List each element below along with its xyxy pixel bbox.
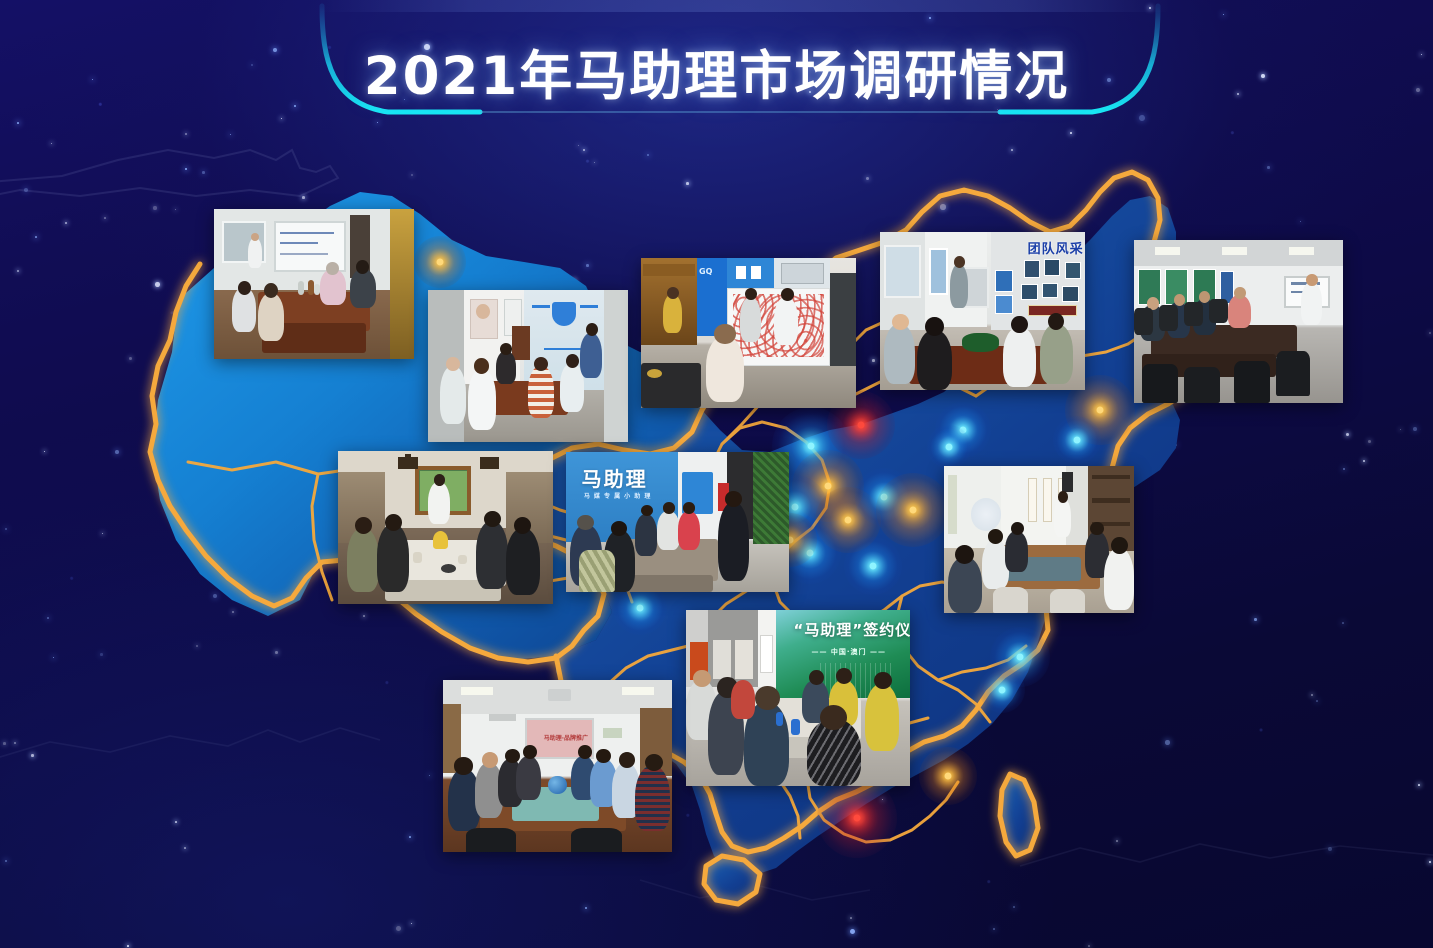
photo-training-whiteboard[interactable]: [214, 209, 414, 359]
map-marker-core: [1017, 654, 1024, 661]
photo-team-spirit-wall[interactable]: 团队风采: [880, 232, 1085, 390]
map-marker-amber: [414, 236, 466, 288]
map-marker-core: [1074, 437, 1081, 444]
map-marker-core: [910, 507, 917, 514]
map-marker-core: [946, 444, 953, 451]
map-marker-core: [637, 605, 644, 612]
map-marker-cyan: [990, 627, 1050, 687]
map-marker-core: [845, 517, 852, 524]
map-marker-cyan: [1053, 416, 1101, 464]
map-marker-cyan: [935, 402, 991, 458]
map-marker-core: [945, 773, 952, 780]
map-marker-amber: [792, 450, 864, 522]
map-marker-core: [808, 443, 815, 450]
map-marker-core: [999, 687, 1006, 694]
map-marker-cyan: [979, 667, 1025, 713]
page-title: 2021年马助理市场调研情况: [0, 34, 1433, 110]
map-marker-core: [854, 815, 861, 822]
poster-header: 2021年马助理市场调研情况: [0, 0, 1433, 140]
photo-caption-team-spirit: 团队风采: [1028, 238, 1084, 257]
map-marker-cyan: [855, 468, 913, 526]
map-marker-cyan: [844, 537, 902, 595]
photo-teahouse-discussion[interactable]: [338, 451, 553, 604]
photo-signing-ceremony[interactable]: “马助理”签约仪式 —— 中国·澳门 ——: [686, 610, 910, 786]
map-marker-red: [817, 778, 897, 858]
photo-caption-signing-sub: —— 中国·澳门 ——: [811, 647, 886, 657]
map-marker-core: [960, 427, 967, 434]
map-marker-core: [825, 483, 832, 490]
photo-conference-projector[interactable]: 马助理·品牌推广: [443, 680, 672, 852]
photo-boardroom-presentation[interactable]: [1134, 240, 1343, 403]
photo-calligraphy-room-meeting[interactable]: [944, 466, 1134, 613]
photo-caption-signing: “马助理”签约仪式: [794, 619, 910, 640]
map-marker-core: [1097, 407, 1104, 414]
map-marker-amber: [919, 747, 977, 805]
map-marker-core: [807, 550, 814, 557]
photo-mazhuli-brand-meeting[interactable]: 马助理 马 媒 专 属 小 助 理 同心筑梦 · 并肩同行: [566, 452, 789, 592]
map-marker-amber: [815, 487, 881, 553]
photo-caption-mazhuli-sub: 马 媒 专 属 小 助 理: [584, 491, 652, 500]
poster-root: GQ 团队风: [0, 0, 1433, 948]
map-marker-core: [792, 504, 799, 511]
photo-store-meeting[interactable]: [428, 290, 628, 442]
map-marker-core: [881, 494, 888, 501]
map-marker-cyan: [927, 425, 971, 469]
map-marker-core: [437, 259, 444, 266]
map-marker-amber: [876, 473, 950, 547]
photo-showroom-demo[interactable]: GQ: [641, 258, 856, 408]
photo-caption-mazhuli: 马助理: [582, 463, 648, 492]
map-marker-core: [858, 422, 865, 429]
map-marker-core: [870, 563, 877, 570]
